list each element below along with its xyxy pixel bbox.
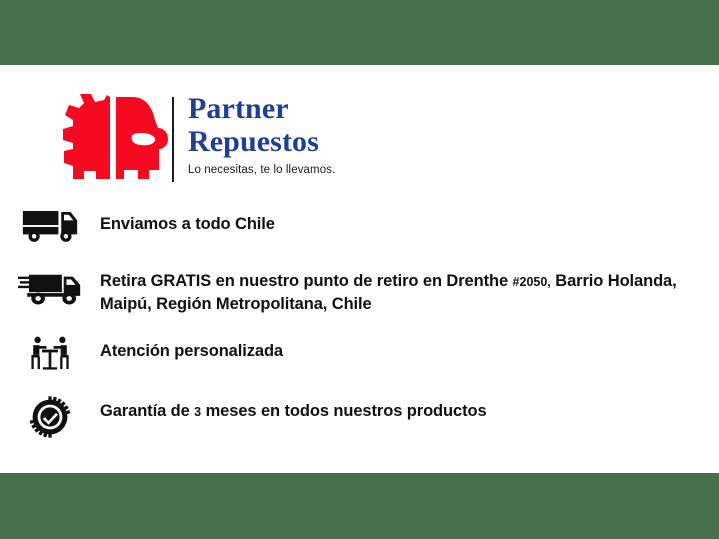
feature-text-part: Atención personalizada bbox=[100, 342, 283, 360]
feature-text-part: Garantía de bbox=[100, 402, 194, 420]
feature-text: Atención personalizada bbox=[100, 333, 283, 362]
feature-row: Garantía de 3 meses en todos nuestros pr… bbox=[0, 393, 719, 439]
gear-car-logo-icon bbox=[60, 94, 168, 182]
warranty-check-badge-icon bbox=[0, 393, 100, 439]
brand-name-line-2: Repuestos bbox=[188, 125, 568, 158]
meeting-table-people-icon bbox=[0, 333, 100, 373]
feature-row: Retira GRATIS en nuestro punto de retiro… bbox=[0, 268, 719, 315]
brand-logo-block: Partner Repuestos Lo necesitas, te lo ll… bbox=[60, 92, 580, 188]
feature-text: Garantía de 3 meses en todos nuestros pr… bbox=[100, 393, 487, 423]
brand-name-line-1: Partner bbox=[188, 92, 568, 125]
top-green-band bbox=[0, 0, 719, 65]
feature-row: Atención personalizada bbox=[0, 333, 719, 373]
feature-text-part: Enviamos a todo Chile bbox=[100, 215, 275, 233]
feature-text-part: Retira GRATIS en nuestro punto de retiro… bbox=[100, 272, 513, 290]
bottom-green-band bbox=[0, 473, 719, 539]
feature-text-part: meses en todos nuestros productos bbox=[201, 402, 486, 420]
feature-row: Enviamos a todo Chile bbox=[0, 206, 719, 244]
brand-tagline: Lo necesitas, te lo llevamos. bbox=[188, 164, 568, 176]
brand-wordmark: Partner Repuestos Lo necesitas, te lo ll… bbox=[188, 92, 568, 176]
feature-text: Retira GRATIS en nuestro punto de retiro… bbox=[100, 268, 719, 315]
promo-banner: Partner Repuestos Lo necesitas, te lo ll… bbox=[0, 0, 719, 539]
feature-text: Enviamos a todo Chile bbox=[100, 206, 275, 235]
delivery-truck-icon bbox=[0, 206, 100, 244]
logo-divider bbox=[172, 97, 174, 182]
feature-text-part-small: #2050, bbox=[513, 275, 551, 289]
moving-truck-icon bbox=[0, 268, 100, 307]
